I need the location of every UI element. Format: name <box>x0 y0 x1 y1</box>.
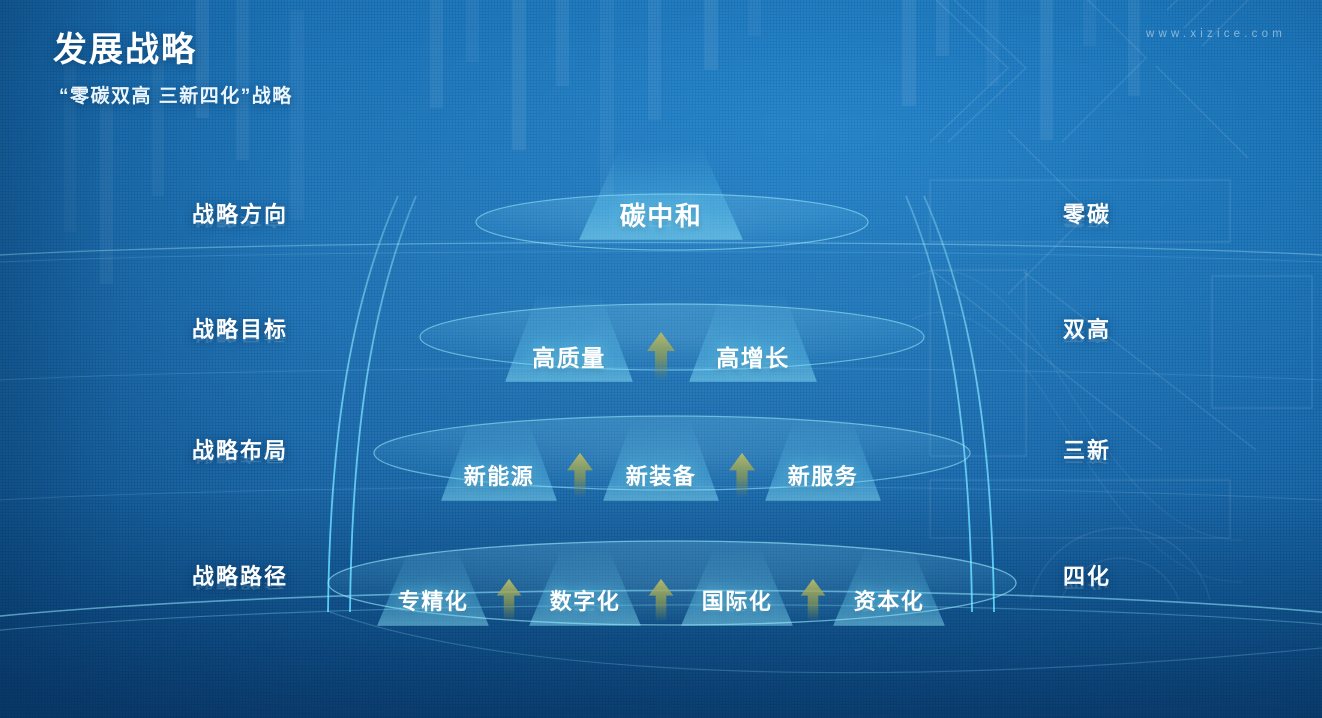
tier-3-item-1-label: 新能源 <box>464 459 535 491</box>
up-arrow-icon <box>726 450 758 500</box>
tier-2-item-2-label: 高增长 <box>716 339 790 373</box>
tier-3-left-label: 战略布局 战略布局 <box>192 433 288 465</box>
tier-4-item-3-label: 国际化 <box>702 584 773 616</box>
up-arrow-icon <box>564 450 596 500</box>
tier-3-right-label: 三新 三新 <box>1063 433 1111 465</box>
tier-2-item-1-label: 高质量 <box>532 339 606 373</box>
tier-1-item-1-label: 碳中和 <box>620 196 703 233</box>
tier-4-item-1-label: 专精化 <box>398 584 469 616</box>
tier-4-left-label: 战略路径 战略路径 <box>192 559 288 591</box>
up-arrow-icon <box>646 576 676 624</box>
tier-4-item-2-label: 数字化 <box>550 584 621 616</box>
slide-canvas: 发展战略 “零碳双高 三新四化”战略 www.xizice.com <box>0 0 1322 718</box>
tier-1-right-label-reflection: 零碳 <box>1063 213 1111 231</box>
tier-1-left-label-reflection: 战略方向 <box>192 213 288 231</box>
tier-4-right-label: 四化 四化 <box>1063 559 1111 591</box>
up-arrow-icon <box>494 576 524 624</box>
tier-1-right-label: 零碳 零碳 <box>1063 197 1111 229</box>
tier-4-items: 专精化 专精化 数字化 数字化 <box>372 576 950 624</box>
tier-2-right-label-reflection: 双高 <box>1063 328 1111 346</box>
tier-1-left-label: 战略方向 战略方向 <box>192 197 288 229</box>
tier-3-item-3-label: 新服务 <box>788 459 859 491</box>
tier-2-left-label-reflection: 战略目标 <box>192 328 288 346</box>
tier-4-left-label-reflection: 战略路径 <box>192 575 288 593</box>
tier-2-right-label: 双高 双高 <box>1063 312 1111 344</box>
tier-2-items: 高质量 高质量 <box>494 329 828 383</box>
funnel-rows: 战略方向 战略方向 零碳 零碳 碳中和 碳中和 战略目标 战略目标 <box>0 0 1322 718</box>
up-arrow-icon <box>644 329 678 383</box>
tier-2-left-label: 战略目标 战略目标 <box>192 312 288 344</box>
tier-3-right-label-reflection: 三新 <box>1063 449 1111 467</box>
tier-4-right-label-reflection: 四化 <box>1063 575 1111 593</box>
tier-3-items: 新能源 新能源 新装备 新装备 <box>434 450 888 500</box>
up-arrow-icon <box>798 576 828 624</box>
tier-4-item-4-label: 资本化 <box>854 584 925 616</box>
tier-3-left-label-reflection: 战略布局 <box>192 449 288 467</box>
tier-3-item-2-label: 新装备 <box>626 459 697 491</box>
